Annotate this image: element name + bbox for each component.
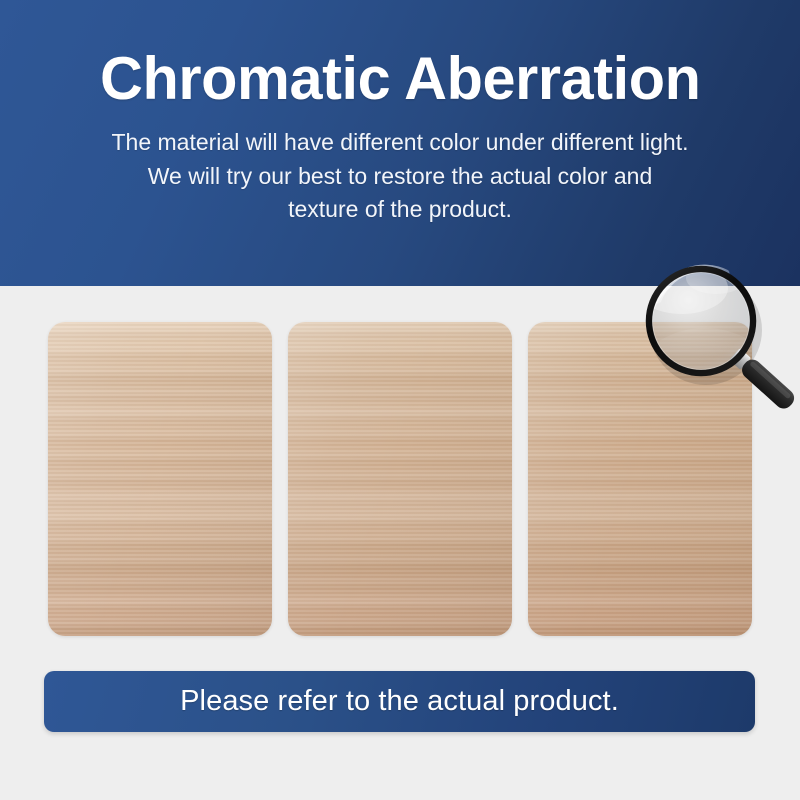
wood-texture-3 xyxy=(528,322,752,636)
header-content: Chromatic Aberration The material will h… xyxy=(0,0,800,286)
header-banner: Chromatic Aberration The material will h… xyxy=(0,0,800,286)
chromatic-aberration-infographic: Chromatic Aberration The material will h… xyxy=(0,0,800,800)
wood-swatch-2 xyxy=(288,322,512,636)
header-subtitle: The material will have different color u… xyxy=(111,126,688,226)
refer-to-actual-product-banner[interactable]: Please refer to the actual product. xyxy=(44,671,755,732)
wood-swatch-row xyxy=(48,322,752,636)
subtitle-line-2: We will try our best to restore the actu… xyxy=(111,160,688,193)
page-title: Chromatic Aberration xyxy=(100,48,700,109)
wood-swatch-1 xyxy=(48,322,272,636)
subtitle-line-3: texture of the product. xyxy=(111,193,688,226)
cta-label: Please refer to the actual product. xyxy=(180,685,619,718)
wood-texture-2 xyxy=(288,322,512,636)
wood-swatch-3 xyxy=(528,322,752,636)
wood-texture-1 xyxy=(48,322,272,636)
subtitle-line-1: The material will have different color u… xyxy=(111,126,688,159)
